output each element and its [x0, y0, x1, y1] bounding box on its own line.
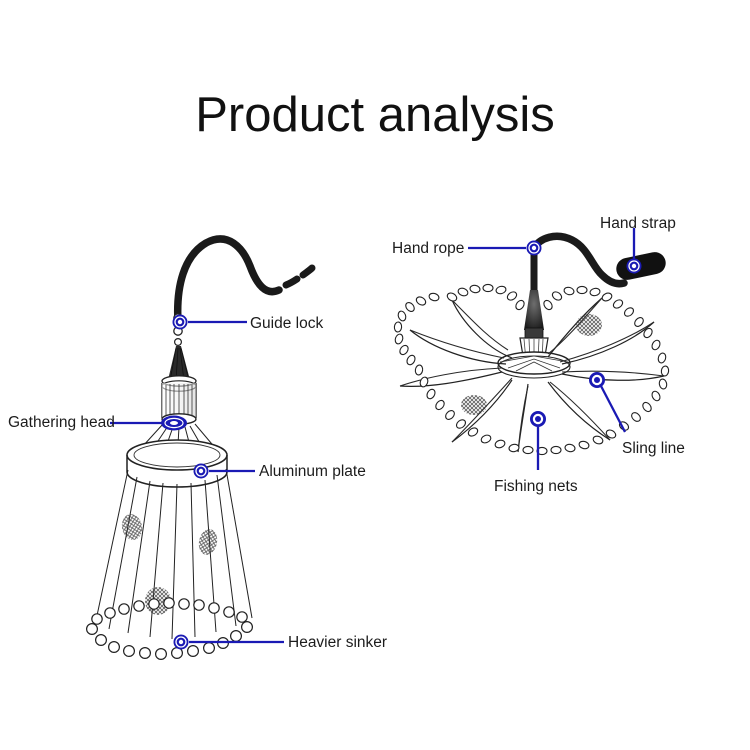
marker-heavier-sinker — [174, 635, 189, 650]
closed-net-illustration — [87, 239, 312, 659]
marker-hand-strap — [627, 259, 642, 274]
callout-label-fishing-nets: Fishing nets — [494, 478, 578, 496]
marker-aluminum-plate — [194, 464, 209, 479]
callout-label-hand-strap: Hand strap — [600, 215, 676, 233]
callout-label-guide-lock: Guide lock — [250, 315, 323, 333]
marker-fishing-nets — [530, 411, 546, 427]
leader-sling-line — [601, 386, 625, 432]
callout-label-gathering-head: Gathering head — [8, 414, 115, 432]
callout-label-hand-rope: Hand rope — [392, 240, 464, 258]
product-analysis-page: Product analysis — [0, 0, 750, 750]
open-net-hand-rope — [534, 236, 624, 290]
open-net-hub — [498, 290, 570, 378]
callout-label-heavier-sinker: Heavier sinker — [288, 634, 387, 652]
closed-net-aluminum-ring — [127, 440, 227, 487]
closed-net-hand-rope — [178, 239, 312, 322]
callout-label-aluminum-plate: Aluminum plate — [259, 463, 366, 481]
marker-gathering-head — [161, 416, 187, 431]
callout-leader-lines — [110, 228, 634, 642]
callout-label-sling-line: Sling line — [622, 440, 685, 458]
marker-hand-rope — [527, 241, 542, 256]
closed-net-sinker-chain-lower — [87, 622, 253, 660]
marker-sling-line — [589, 372, 605, 388]
marker-guide-lock — [173, 315, 188, 330]
closed-net-sinker-chain-upper — [92, 598, 247, 624]
